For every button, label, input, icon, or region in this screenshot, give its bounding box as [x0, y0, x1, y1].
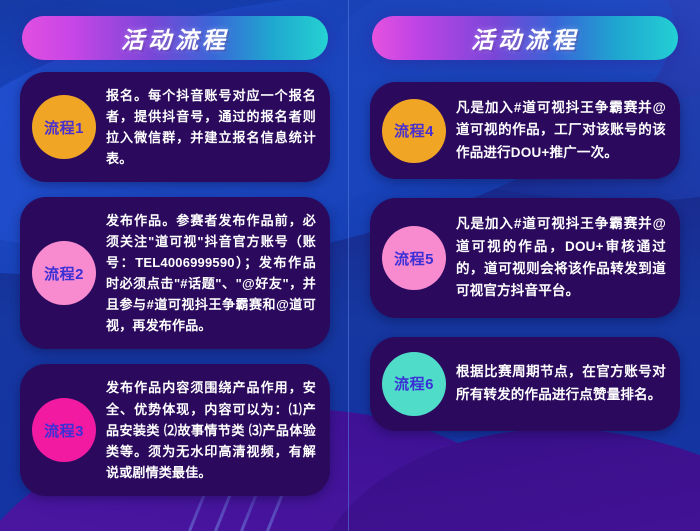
flow-badge-label: 流程4 — [394, 120, 434, 141]
section-header-left: 活动流程 — [22, 16, 328, 60]
flow-badge: 流程6 — [382, 352, 446, 416]
panel-left: 活动流程 流程1 报名。每个抖音账号对应一个报名者，提供抖音号，通过的报名者则拉… — [0, 0, 350, 531]
flow-badge-label: 流程2 — [44, 263, 84, 284]
flow-card-text: 凡是加入#道可视抖王争霸赛并@道可视的作品，DOU+审核通过的，道可视则会将该作… — [456, 213, 666, 303]
flow-card-text: 发布作品内容须围绕产品作用，安全、优势体现，内容可以为：⑴产品安装类 ⑵故事情节… — [106, 377, 316, 482]
section-title: 活动流程 — [121, 21, 229, 55]
flow-card-text: 凡是加入#道可视抖王争霸赛并@道可视的作品，工厂对该账号的该作品进行DOU+推广… — [456, 97, 666, 164]
flow-card[interactable]: 流程3 发布作品内容须围绕产品作用，安全、优势体现，内容可以为：⑴产品安装类 ⑵… — [20, 364, 330, 495]
flow-badge: 流程4 — [382, 99, 446, 163]
flow-card[interactable]: 流程5 凡是加入#道可视抖王争霸赛并@道可视的作品，DOU+审核通过的，道可视则… — [370, 198, 680, 318]
panel-container: 活动流程 流程1 报名。每个抖音账号对应一个报名者，提供抖音号，通过的报名者则拉… — [0, 0, 700, 531]
flow-badge: 流程5 — [382, 226, 446, 290]
flow-badge: 流程2 — [32, 241, 96, 305]
poster: 活动流程 流程1 报名。每个抖音账号对应一个报名者，提供抖音号，通过的报名者则拉… — [0, 0, 700, 531]
flow-card-text: 根据比赛周期节点，在官方账号对所有转发的作品进行点赞量排名。 — [456, 361, 666, 406]
flow-badge-label: 流程1 — [44, 117, 84, 138]
flow-badge-label: 流程6 — [394, 373, 434, 394]
flow-badge-label: 流程5 — [394, 248, 434, 269]
flow-card-text: 发布作品。参赛者发布作品前，必须关注"道可视"抖音官方账号（账号：TEL4006… — [106, 210, 316, 336]
flow-card-text: 报名。每个抖音账号对应一个报名者，提供抖音号，通过的报名者则拉入微信群，并建立报… — [106, 85, 316, 169]
flow-card[interactable]: 流程6 根据比赛周期节点，在官方账号对所有转发的作品进行点赞量排名。 — [370, 337, 680, 431]
card-list-left: 流程1 报名。每个抖音账号对应一个报名者，提供抖音号，通过的报名者则拉入微信群，… — [20, 60, 330, 496]
section-title: 活动流程 — [471, 21, 579, 55]
flow-card[interactable]: 流程1 报名。每个抖音账号对应一个报名者，提供抖音号，通过的报名者则拉入微信群，… — [20, 72, 330, 182]
panel-right: 活动流程 流程4 凡是加入#道可视抖王争霸赛并@道可视的作品，工厂对该账号的该作… — [350, 0, 700, 531]
flow-card[interactable]: 流程4 凡是加入#道可视抖王争霸赛并@道可视的作品，工厂对该账号的该作品进行DO… — [370, 82, 680, 179]
card-list-right: 流程4 凡是加入#道可视抖王争霸赛并@道可视的作品，工厂对该账号的该作品进行DO… — [370, 60, 680, 431]
flow-badge: 流程1 — [32, 95, 96, 159]
flow-badge: 流程3 — [32, 398, 96, 462]
flow-card[interactable]: 流程2 发布作品。参赛者发布作品前，必须关注"道可视"抖音官方账号（账号：TEL… — [20, 197, 330, 349]
section-header-right: 活动流程 — [372, 16, 678, 60]
flow-badge-label: 流程3 — [44, 420, 84, 441]
